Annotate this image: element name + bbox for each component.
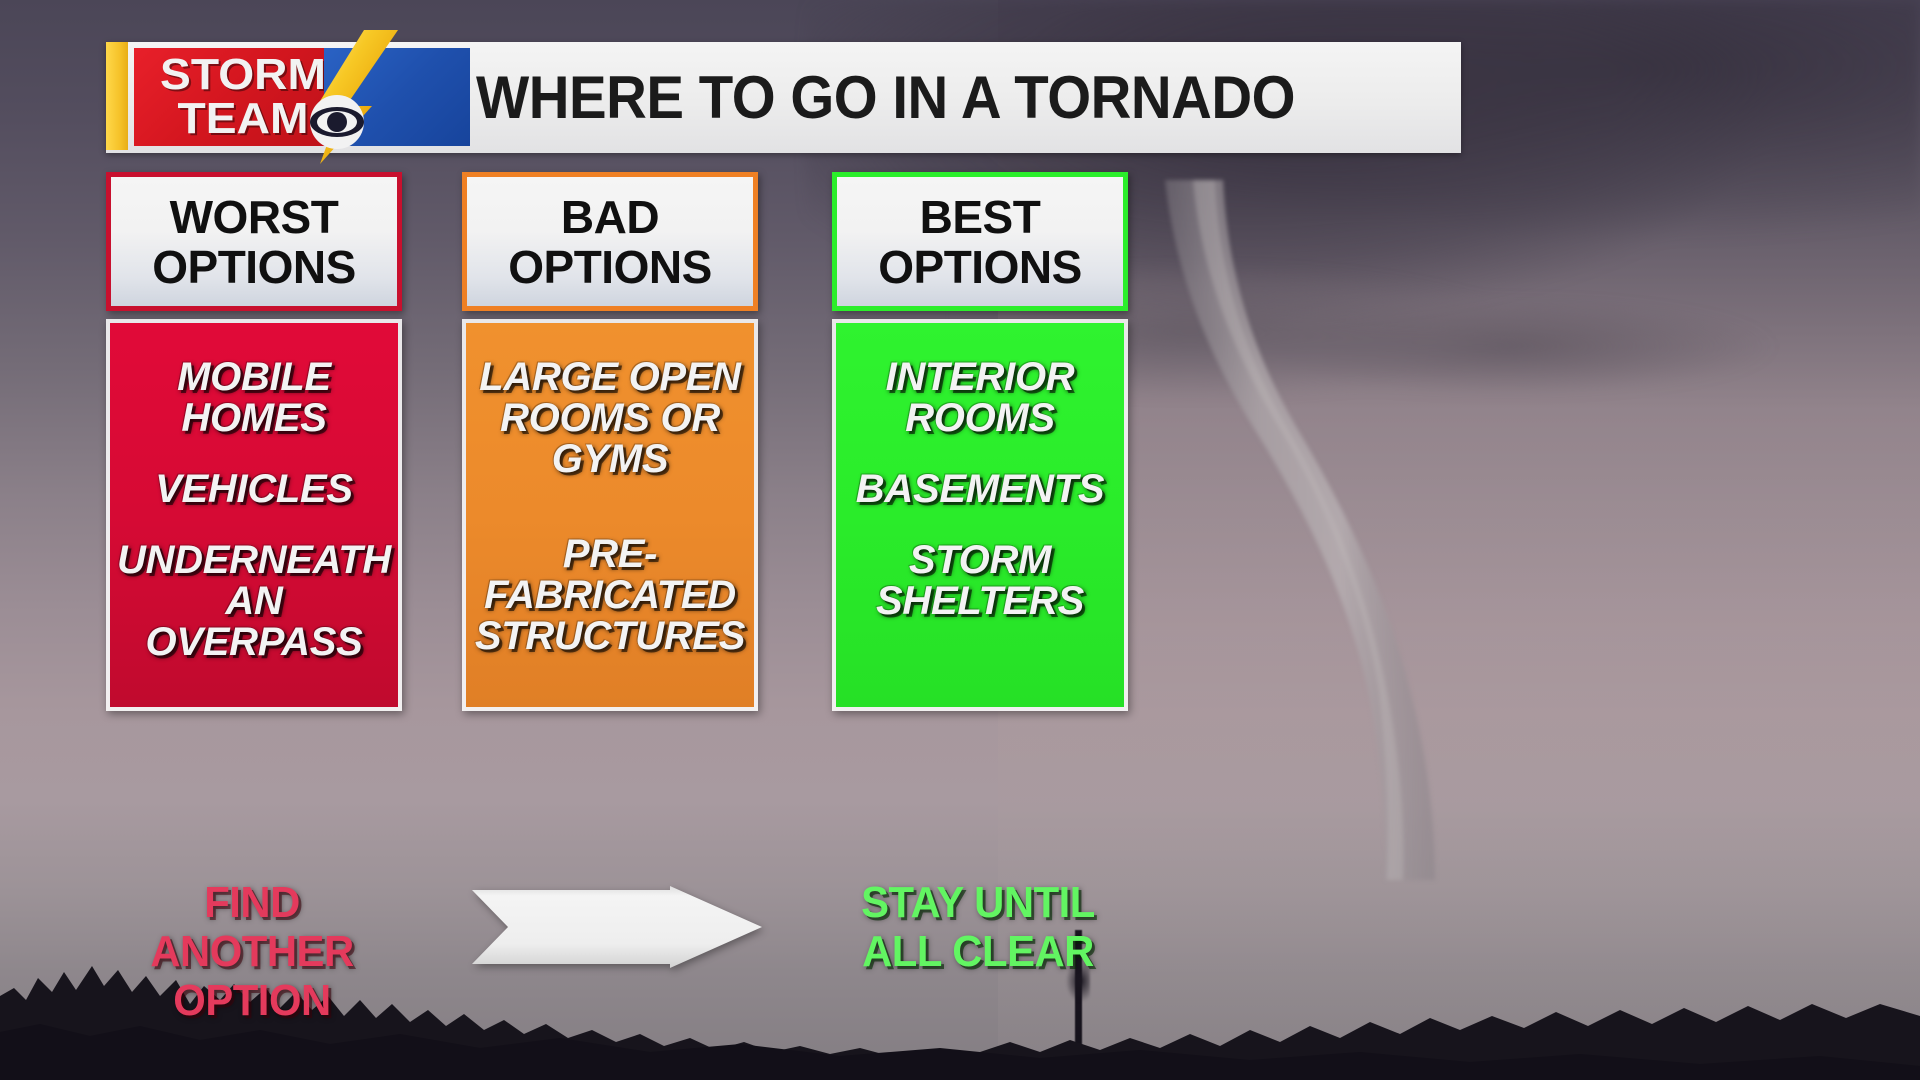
cbs-eye-icon: [306, 94, 368, 150]
column-header-worst: WORST OPTIONS: [106, 172, 402, 311]
list-item: PRE-FABRICATED STRUCTURES: [474, 534, 746, 657]
caption-best: STAY UNTIL ALL CLEAR: [826, 878, 1130, 976]
column-heading-line1: WORST: [170, 192, 339, 242]
column-body-bad: LARGE OPEN ROOMS OR GYMS PRE-FABRICATED …: [462, 319, 758, 711]
right-arrow-icon: [472, 886, 762, 968]
column-heading-line1: BAD: [561, 192, 659, 242]
tornado-funnel-icon: [1135, 180, 1555, 880]
column-bad-options: BAD OPTIONS LARGE OPEN ROOMS OR GYMS PRE…: [462, 172, 758, 711]
caption-worst: FIND ANOTHER OPTION: [100, 878, 404, 1025]
column-worst-options: WORST OPTIONS MOBILE HOMES VEHICLES UNDE…: [106, 172, 402, 711]
column-header-best: BEST OPTIONS: [832, 172, 1128, 311]
list-item: LARGE OPEN ROOMS OR GYMS: [474, 357, 746, 480]
list-item: BASEMENTS: [856, 469, 1104, 510]
column-heading-line2: OPTIONS: [152, 242, 356, 292]
column-heading-line2: OPTIONS: [878, 242, 1082, 292]
column-heading-line1: BEST: [920, 192, 1041, 242]
list-item: STORM SHELTERS: [844, 540, 1116, 622]
station-logo: STORM TEAM 12: [106, 38, 470, 157]
logo-accent-bar: [106, 42, 128, 150]
column-header-bad: BAD OPTIONS: [462, 172, 758, 311]
column-body-worst: MOBILE HOMES VEHICLES UNDERNEATH AN OVER…: [106, 319, 402, 711]
list-item: UNDERNEATH AN OVERPASS: [117, 540, 391, 663]
list-item: VEHICLES: [155, 469, 353, 510]
page-title: WHERE TO GO IN A TORNADO: [476, 42, 1295, 153]
list-item: MOBILE HOMES: [118, 357, 390, 439]
column-best-options: BEST OPTIONS INTERIOR ROOMS BASEMENTS ST…: [832, 172, 1128, 711]
column-heading-line2: OPTIONS: [508, 242, 712, 292]
list-item: INTERIOR ROOMS: [844, 357, 1116, 439]
column-body-best: INTERIOR ROOMS BASEMENTS STORM SHELTERS: [832, 319, 1128, 711]
